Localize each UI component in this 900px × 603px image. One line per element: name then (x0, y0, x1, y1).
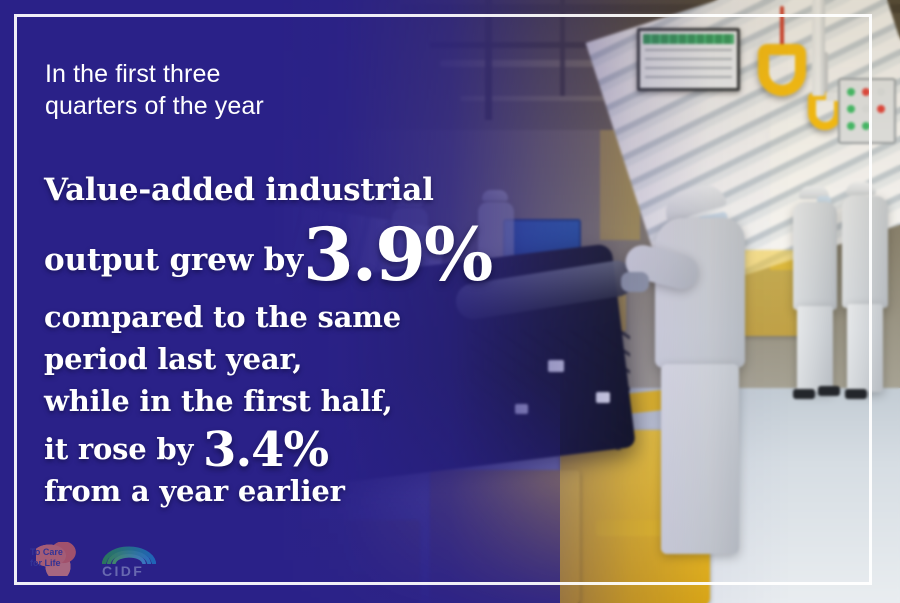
kicker-text: In the first three quarters of the year (45, 58, 465, 122)
watermark-logos: To Care for Life (30, 537, 160, 581)
cidf-logo[interactable]: CIDF (98, 538, 160, 580)
cidf-arcs-icon (102, 540, 156, 564)
kicker-line-1: In the first three (45, 58, 465, 90)
headline-line-2-prefix: output grew by (44, 242, 303, 278)
body-line-4-prefix: it rose by (44, 432, 193, 466)
headline-big-value: 3.9% (303, 212, 491, 298)
body-text: compared to the same period last year, w… (44, 296, 514, 512)
headline-line-2: output grew by3.9% (44, 225, 564, 295)
body-line-4: it rose by 3.4% (44, 422, 514, 470)
to-care-for-life-logo[interactable]: To Care for Life (30, 538, 86, 580)
to-care-for-life-logo-text: To Care for Life (30, 547, 86, 569)
cidf-logo-text: CIDF (102, 563, 144, 579)
body-line-2: period last year, (44, 338, 514, 380)
infographic-card: In the first three quarters of the year … (0, 0, 900, 603)
headline: Value-added industrial output grew by3.9… (44, 155, 564, 295)
kicker-line-2: quarters of the year (45, 90, 465, 122)
body-line-1: compared to the same (44, 296, 514, 338)
body-mid-value: 3.4% (203, 422, 328, 478)
body-line-3: while in the first half, (44, 380, 514, 422)
